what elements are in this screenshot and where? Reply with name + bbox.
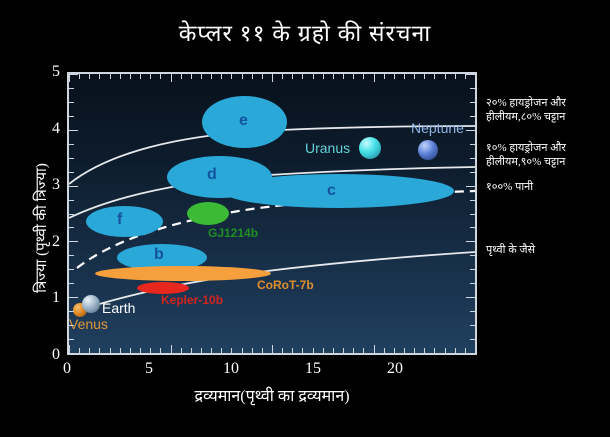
- xtick-mark-top: [475, 74, 476, 82]
- xtick-mark-top: [79, 74, 80, 79]
- xtick-mark-top: [323, 74, 324, 79]
- ytick-mark: [69, 283, 74, 284]
- xtick-mark: [99, 348, 100, 353]
- xtick-mark: [69, 345, 70, 353]
- xtick-mark-top: [89, 74, 90, 79]
- xtick-mark: [79, 348, 80, 353]
- xtick-mark: [292, 348, 293, 353]
- xtick-mark-top: [272, 74, 273, 82]
- xtick-mark-top: [374, 74, 375, 82]
- chart-root: केप्लर ११ के ग्रहो की संरचना e d c f b G…: [0, 0, 610, 437]
- xtick-mark-top: [69, 74, 70, 82]
- xtick-mark: [384, 348, 385, 353]
- ytick-mark: [69, 102, 74, 103]
- xtick-mark-top: [120, 74, 121, 79]
- xtick-mark-top: [221, 74, 222, 79]
- planet-sphere-neptune: [418, 140, 438, 160]
- xtick-mark-top: [181, 74, 182, 79]
- ytick-mark: [69, 255, 74, 256]
- xtick-10: 10: [216, 360, 246, 378]
- planet-ellipse-f: [86, 206, 163, 237]
- xtick-mark: [374, 345, 375, 353]
- ytick-mark: [69, 214, 74, 215]
- ytick-mark-right: [470, 227, 475, 228]
- xtick-mark-top: [313, 74, 314, 79]
- xtick-mark: [333, 348, 334, 353]
- ytick-mark: [69, 297, 78, 298]
- planet-label-neptune: Neptune: [411, 120, 464, 136]
- xtick-mark-top: [191, 74, 192, 79]
- annotation-20pct-line2: हीलीयम,८०% चट्टान: [486, 111, 565, 124]
- xtick-mark-top: [292, 74, 293, 79]
- planet-label-e: e: [239, 112, 248, 130]
- annotation-100pct-water: १००% पानी: [486, 181, 533, 194]
- xtick-mark-top: [414, 74, 415, 79]
- xtick-mark-top: [404, 74, 405, 79]
- xtick-mark: [455, 348, 456, 353]
- ytick-mark-right: [470, 311, 475, 312]
- xtick-mark: [424, 348, 425, 353]
- ytick-mark-right: [470, 325, 475, 326]
- planet-ellipse-corot7b: [95, 266, 271, 281]
- planet-label-kepler10b: Kepler-10b: [161, 293, 223, 307]
- ytick-mark-right: [470, 172, 475, 173]
- ytick-mark-right: [466, 74, 475, 75]
- xtick-mark-top: [394, 74, 395, 79]
- xtick-mark: [252, 348, 253, 353]
- xtick-mark: [302, 348, 303, 353]
- xtick-mark: [140, 348, 141, 353]
- xtick-5: 5: [134, 360, 164, 378]
- xtick-mark: [242, 348, 243, 353]
- planet-label-f: f: [117, 211, 122, 229]
- ytick-mark: [69, 241, 78, 242]
- ytick-mark: [69, 186, 78, 187]
- xtick-mark: [130, 348, 131, 353]
- xtick-mark: [343, 348, 344, 353]
- ytick-mark-right: [470, 283, 475, 284]
- xtick-mark-top: [262, 74, 263, 79]
- xtick-mark-top: [231, 74, 232, 79]
- xtick-mark: [181, 348, 182, 353]
- planet-ellipse-c: [222, 174, 454, 208]
- xtick-mark-top: [130, 74, 131, 79]
- planet-label-d: d: [207, 166, 217, 184]
- xtick-mark-top: [160, 74, 161, 79]
- xtick-mark: [404, 348, 405, 353]
- ytick-mark-right: [470, 200, 475, 201]
- xtick-mark: [353, 348, 354, 353]
- xtick-mark: [363, 348, 364, 353]
- xtick-mark: [445, 348, 446, 353]
- chart-title: केप्लर ११ के ग्रहो की संरचना: [0, 16, 610, 48]
- ytick-mark-right: [466, 130, 475, 131]
- xtick-mark-top: [242, 74, 243, 79]
- plot-area: e d c f b GJ1214b CoRoT-7b Kepler-10b Ve…: [67, 72, 477, 355]
- xtick-mark-top: [445, 74, 446, 79]
- ytick-mark-right: [470, 88, 475, 89]
- xtick-mark: [272, 345, 273, 353]
- xtick-mark-top: [434, 74, 435, 79]
- planet-label-corot7b: CoRoT-7b: [257, 278, 314, 292]
- xtick-mark: [414, 348, 415, 353]
- xtick-mark: [150, 348, 151, 353]
- ytick-mark-right: [470, 144, 475, 145]
- ytick-mark-right: [466, 353, 475, 354]
- y-axis-label: त्रिज्या (पृथ्वी की त्रिज्या): [31, 103, 51, 353]
- ytick-mark-right: [470, 116, 475, 117]
- ytick-mark: [69, 172, 74, 173]
- xtick-mark-top: [110, 74, 111, 79]
- xtick-15: 15: [298, 360, 328, 378]
- xtick-mark: [221, 348, 222, 353]
- xtick-mark-top: [211, 74, 212, 79]
- ytick-5: 5: [38, 63, 60, 81]
- ytick-mark-right: [470, 214, 475, 215]
- xtick-mark-top: [384, 74, 385, 79]
- xtick-mark: [120, 348, 121, 353]
- planet-label-c: c: [327, 182, 336, 200]
- xtick-mark: [110, 348, 111, 353]
- ytick-mark: [69, 200, 74, 201]
- xtick-mark: [89, 348, 90, 353]
- xtick-mark-top: [171, 74, 172, 82]
- xtick-mark-top: [455, 74, 456, 79]
- xtick-mark: [434, 348, 435, 353]
- planet-sphere-earth: [82, 295, 100, 313]
- xtick-mark: [262, 348, 263, 353]
- xtick-mark: [323, 348, 324, 353]
- xtick-mark-top: [424, 74, 425, 79]
- ytick-mark-right: [466, 297, 475, 298]
- annotation-20pct-line1: २०% हायड्रोजन और: [486, 97, 566, 110]
- annotation-earth-like: पृथ्वी के जैसे: [486, 244, 535, 257]
- planet-label-earth: Earth: [102, 300, 135, 316]
- x-axis-label: द्रव्यमान(पृथ्वी का द्रव्यमान): [67, 384, 477, 406]
- ytick-mark-right: [470, 269, 475, 270]
- ytick-mark: [69, 158, 74, 159]
- ytick-mark: [69, 74, 78, 75]
- xtick-mark-top: [302, 74, 303, 79]
- annotation-10pct-line1: १०% हायड्रोजन और: [486, 142, 566, 155]
- ytick-mark-right: [470, 102, 475, 103]
- xtick-mark-top: [201, 74, 202, 79]
- planet-label-b: b: [154, 246, 164, 264]
- planet-label-gj1214b: GJ1214b: [208, 226, 258, 240]
- xtick-mark: [171, 345, 172, 353]
- xtick-mark: [231, 348, 232, 353]
- xtick-mark-top: [343, 74, 344, 79]
- ytick-mark: [69, 88, 74, 89]
- xtick-mark-top: [99, 74, 100, 79]
- ytick-mark: [69, 144, 74, 145]
- xtick-mark: [201, 348, 202, 353]
- xtick-20: 20: [380, 360, 410, 378]
- ytick-mark-right: [470, 255, 475, 256]
- ytick-mark: [69, 269, 74, 270]
- planet-ellipse-gj1214b: [187, 202, 229, 225]
- xtick-mark: [394, 348, 395, 353]
- ytick-mark-right: [466, 241, 475, 242]
- xtick-mark-top: [282, 74, 283, 79]
- ytick-mark: [69, 116, 74, 117]
- ytick-mark: [69, 325, 74, 326]
- ytick-mark-right: [470, 158, 475, 159]
- xtick-mark-top: [363, 74, 364, 79]
- ytick-mark-right: [466, 186, 475, 187]
- xtick-mark: [211, 348, 212, 353]
- xtick-mark-top: [353, 74, 354, 79]
- ytick-mark: [69, 130, 78, 131]
- xtick-mark: [191, 348, 192, 353]
- xtick-mark: [475, 345, 476, 353]
- xtick-mark-top: [150, 74, 151, 79]
- planet-sphere-uranus: [359, 137, 381, 159]
- xtick-mark-top: [140, 74, 141, 79]
- ytick-mark: [69, 311, 74, 312]
- ytick-mark: [69, 339, 74, 340]
- planet-label-venus: Venus: [69, 316, 108, 332]
- xtick-mark: [313, 348, 314, 353]
- xtick-mark-top: [333, 74, 334, 79]
- xtick-mark-top: [252, 74, 253, 79]
- xtick-mark: [282, 348, 283, 353]
- annotation-10pct-line2: हीलीयम,९०% चट्टान: [486, 156, 565, 169]
- xtick-mark: [160, 348, 161, 353]
- planet-label-uranus: Uranus: [305, 140, 350, 156]
- ytick-mark-right: [470, 339, 475, 340]
- ytick-mark: [69, 227, 74, 228]
- ytick-mark: [69, 353, 78, 354]
